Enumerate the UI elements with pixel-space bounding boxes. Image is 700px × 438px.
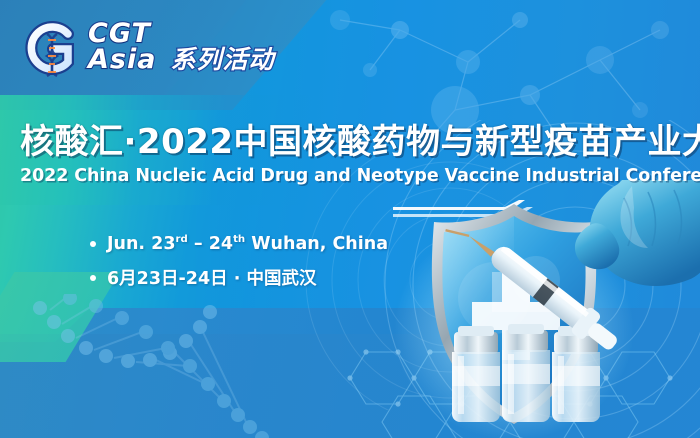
- cgt-dna-logo-icon: [22, 19, 82, 77]
- logo-series-label: 系列活动: [170, 40, 274, 82]
- bullet-dot-icon: [90, 241, 96, 247]
- vaccine-vials-graphic: [452, 324, 600, 422]
- event-date-location-en: Jun. 23rd – 24th Wuhan, China: [90, 234, 388, 254]
- event-date-location-en-text: Jun. 23rd – 24th Wuhan, China: [107, 234, 388, 254]
- page-title-chinese: 核酸汇·2022中国核酸药物与新型疫苗产业大会: [20, 114, 700, 163]
- event-date-location-cn: 6月23日-24日 · 中国武汉: [90, 265, 388, 290]
- event-details-list: Jun. 23rd – 24th Wuhan, China 6月23日-24日 …: [90, 234, 388, 290]
- page-title-english: 2022 China Nucleic Acid Drug and Neotype…: [20, 166, 700, 186]
- logo-wordmark: CGT Asia: [88, 22, 156, 75]
- vaccine-artwork: [386, 180, 700, 438]
- dna-double-helix-graphic: [10, 294, 370, 438]
- conference-banner: CGT Asia 系列活动 核酸汇·2022中国核酸药物与新型疫苗产业大会 20…: [0, 0, 700, 438]
- logo-line-cgt: CGT: [88, 22, 156, 47]
- bullet-dot-icon: [90, 275, 96, 281]
- logo-lockup[interactable]: CGT Asia 系列活动: [22, 14, 274, 82]
- event-date-location-cn-text: 6月23日-24日 · 中国武汉: [107, 265, 316, 290]
- logo-line-asia: Asia: [88, 48, 156, 73]
